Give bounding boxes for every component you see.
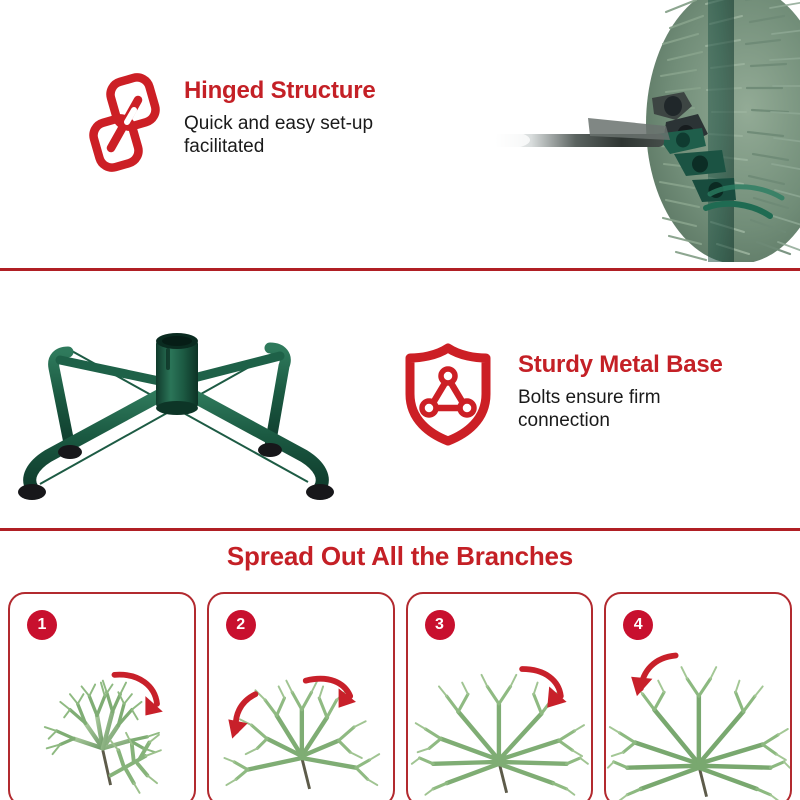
step-box-1: 1	[8, 592, 196, 800]
step-number-badge: 1	[27, 610, 57, 640]
metal-tree-stand-photo	[8, 296, 344, 508]
infographic-page: Hinged Structure Quick and easy set-up f…	[0, 0, 800, 800]
section-divider-1	[0, 268, 800, 271]
feature-text-block: Hinged Structure Quick and easy set-up f…	[184, 72, 375, 158]
step-number-badge: 2	[226, 610, 256, 640]
feature-description: Quick and easy set-up facilitated	[184, 113, 375, 158]
feature-description: Bolts ensure firm connection	[518, 387, 723, 432]
section-divider-2	[0, 528, 800, 531]
feature-sturdy-metal-base: Sturdy Metal Base Bolts ensure firm conn…	[400, 342, 723, 446]
branches-section-heading: Spread Out All the Branches	[0, 541, 800, 572]
feature-title: Hinged Structure	[184, 78, 375, 104]
step-number-badge: 3	[425, 610, 455, 640]
step-box-3: 3	[406, 592, 594, 800]
feature-text-block: Sturdy Metal Base Bolts ensure firm conn…	[518, 342, 723, 432]
feature-hinged-structure: Hinged Structure Quick and easy set-up f…	[86, 72, 375, 172]
chain-link-icon	[86, 72, 164, 172]
branch-steps-row: 1	[8, 592, 792, 800]
step-box-2: 2	[207, 592, 395, 800]
hinged-branch-mechanism-photo	[470, 0, 800, 262]
feature-title: Sturdy Metal Base	[518, 352, 723, 378]
shield-triangle-icon	[400, 342, 496, 446]
step-box-4: 4	[604, 592, 792, 800]
